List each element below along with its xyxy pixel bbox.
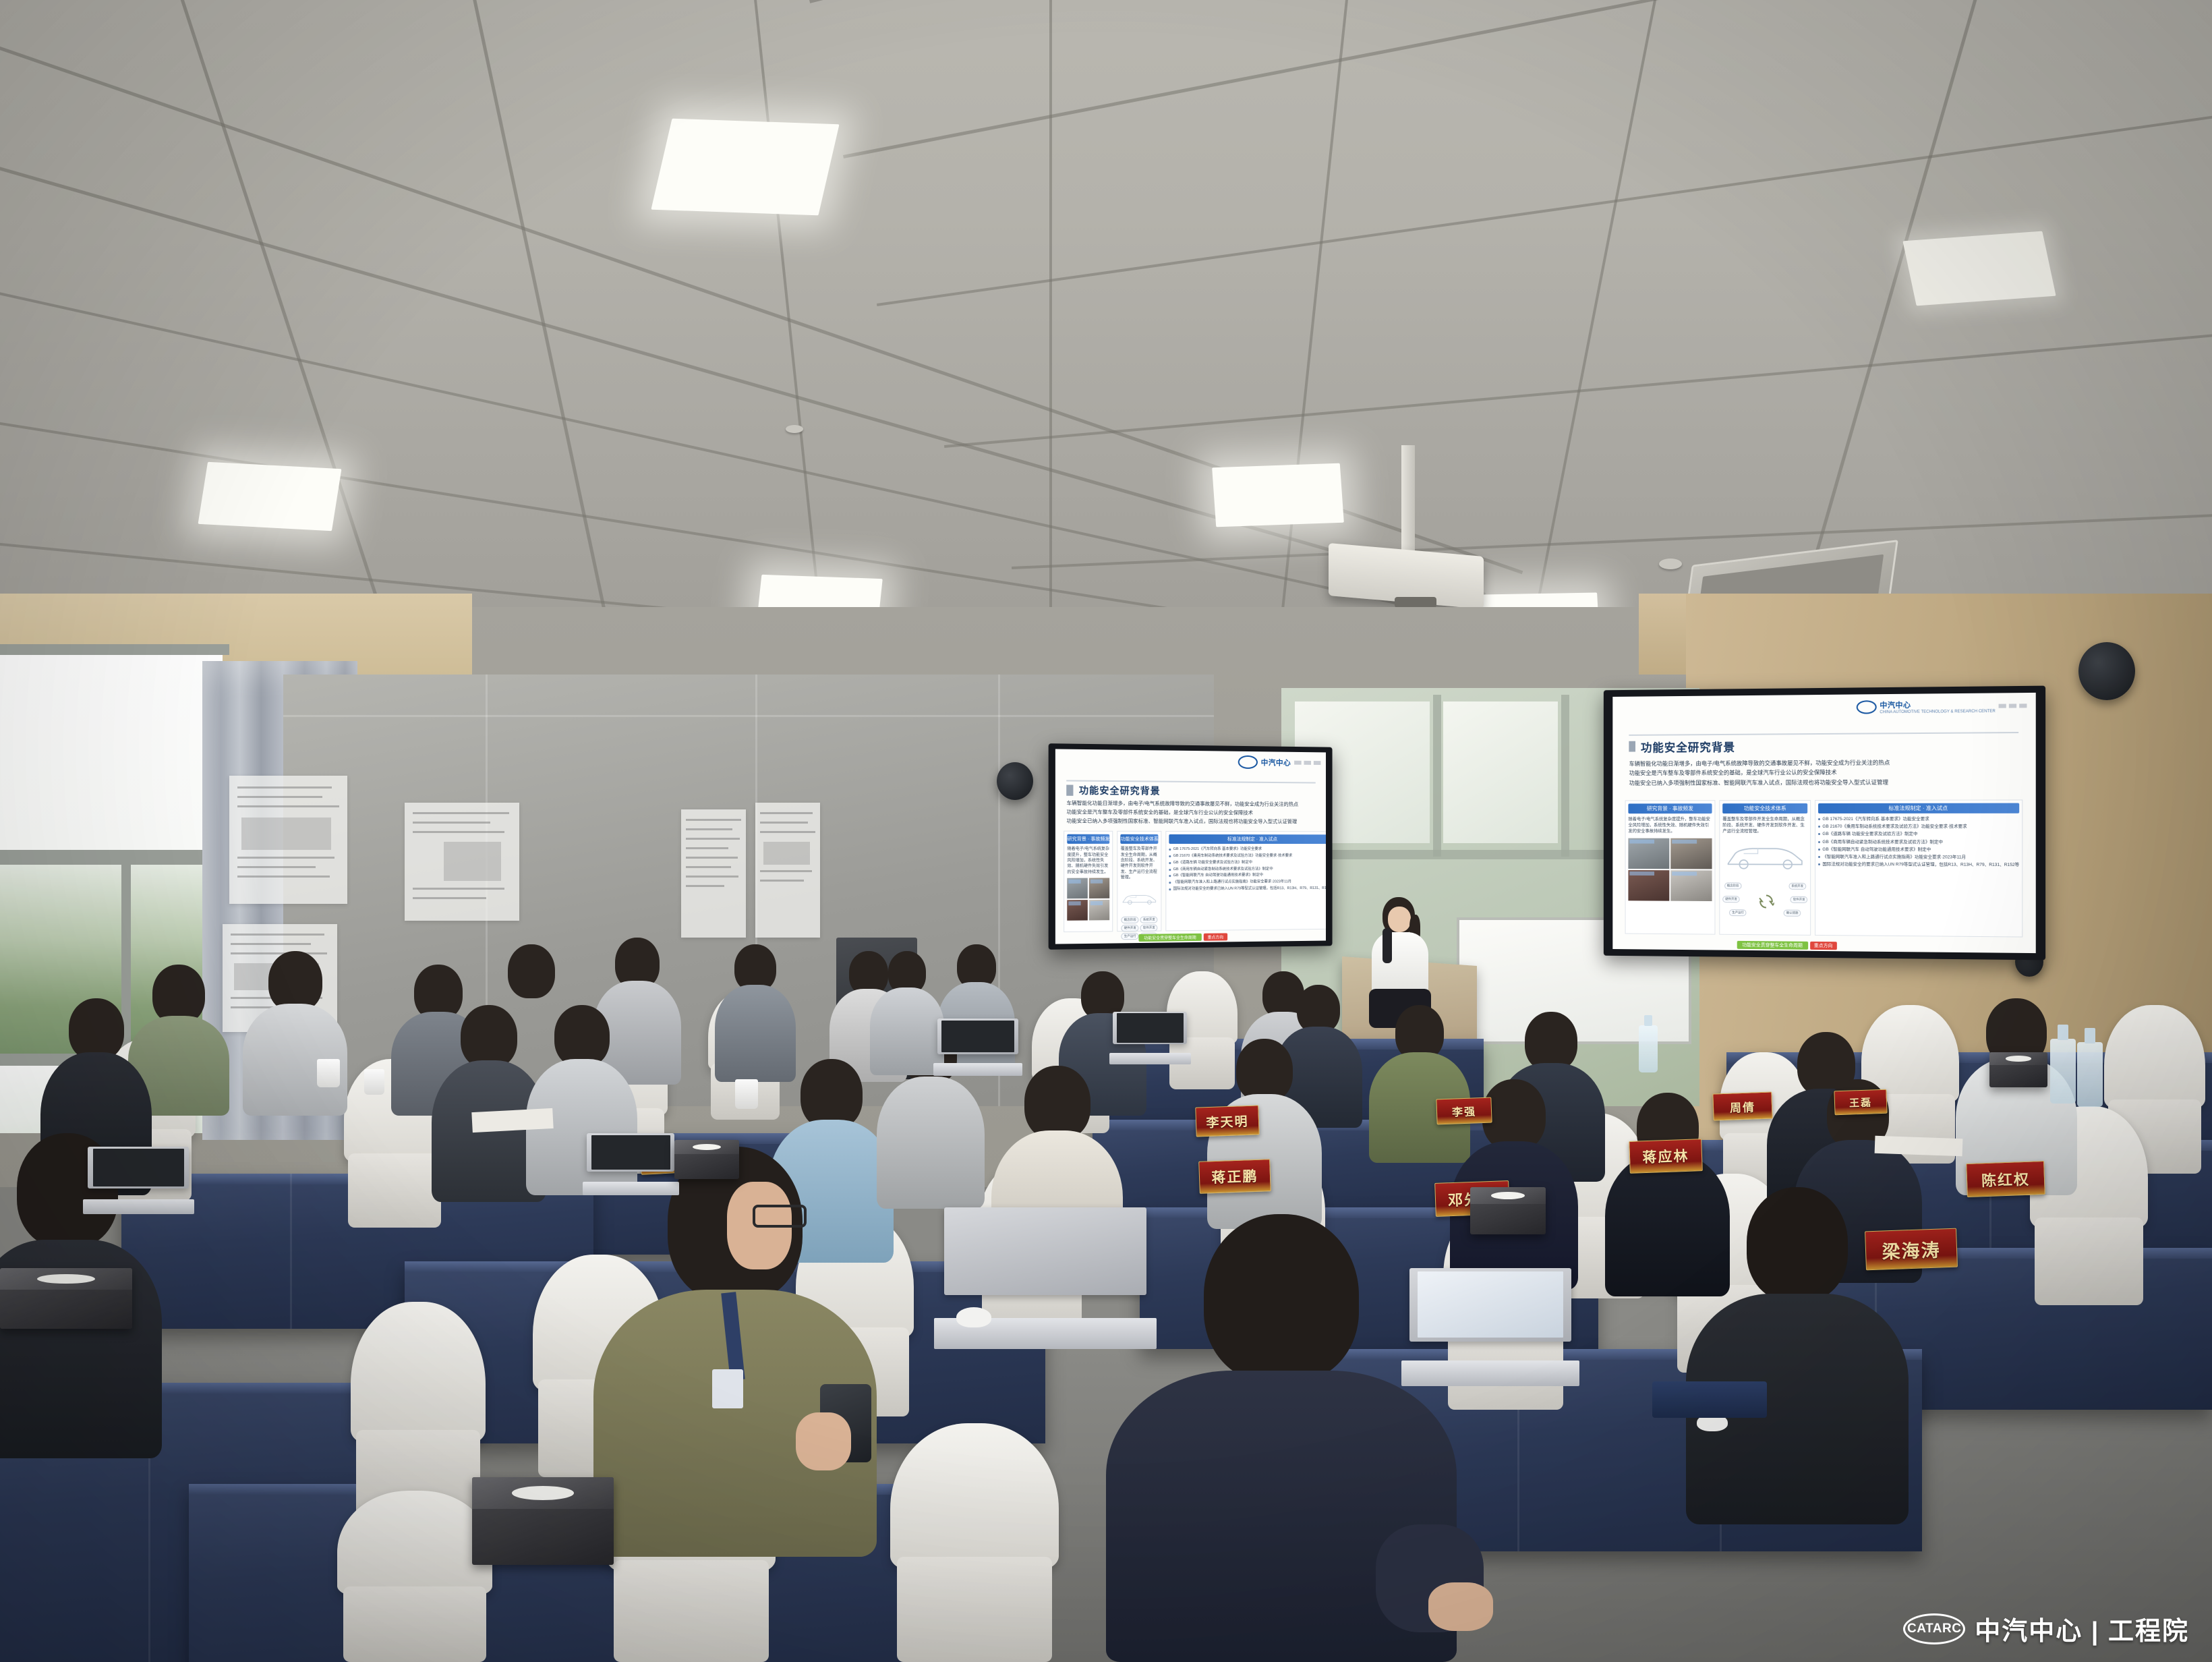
conference-room-photo: 中汽中心 功能安全研究背景 车辆智能化功能日渐增多，由电子/电气系统故障导致的交…: [0, 0, 2212, 1662]
slide-logo: 中汽中心: [1238, 755, 1321, 769]
presenter-microphone: [1382, 928, 1392, 963]
cycle-arrows-icon: [1758, 894, 1774, 910]
slide-column: 功能安全技术体系 覆盖整车及零部件开发全生命周期，从概念阶段、系统开发、硬件开发…: [1719, 800, 1811, 936]
slide-regulation-list: GB 17675-2021《汽车转向系 基本要求》功能安全要求 GB 21670…: [1818, 816, 2019, 869]
slide-bullet: 车辆智能化功能日渐增多，由电子/电气系统故障导致的交通事故屡见不鲜，功能安全成为…: [1066, 800, 1315, 809]
ceiling-light-panel: [651, 119, 839, 216]
slide-left: 中汽中心 功能安全研究背景 车辆智能化功能日渐增多，由电子/电气系统故障导致的交…: [1055, 749, 1326, 944]
nameplate-text: 李强: [1452, 1102, 1477, 1119]
laptop: [88, 1147, 189, 1214]
slide-bullet: 车辆智能化功能日渐增多，由电子/电气系统故障导致的交通事故屡见不鲜，功能安全成为…: [1629, 758, 2018, 768]
slide-chip: 硬件开发: [1722, 896, 1739, 902]
chair: [337, 1491, 492, 1662]
smoke-detector-icon: [1659, 558, 1682, 569]
slide-column-header: 标准法规制定 · 准入试点: [1169, 834, 1326, 844]
nameplate-text: 周倩: [1730, 1097, 1756, 1115]
presenter-face: [1388, 907, 1411, 932]
tissue-box: [674, 1140, 739, 1179]
slide-column-header: 标准法规制定 · 准入试点: [1818, 803, 2019, 813]
list-item: GB 21670《乘用车制动系统技术要求及试验方法》功能安全要求·技术要求: [1818, 824, 2019, 830]
notebook: [1652, 1381, 1767, 1418]
watermark-logo-text: CATARC: [1907, 1622, 1961, 1636]
list-item: GB 17675-2021《汽车转向系 基本要求》功能安全要求: [1818, 816, 2019, 823]
nameplate-text: 王磊: [1849, 1095, 1873, 1110]
slide-brand-sub: CHINA AUTOMOTIVE TECHNOLOGY & RESEARCH C…: [1880, 709, 1995, 714]
list-item: GB《道路车辆 功能安全要求及试验方法》制定中: [1818, 831, 2019, 838]
slide-title: 功能安全研究背景: [1641, 738, 1735, 755]
tissue-box: [0, 1268, 132, 1329]
slide-chip: 概念阶段: [1122, 916, 1139, 923]
slide-bullet: 功能安全已纳入多项强制性国家标准、智能网联汽车准入试点，国际法规也将功能安全导入…: [1629, 778, 2018, 787]
slide-chip: 系统开发: [1140, 916, 1158, 923]
nameplate-text: 蒋正鹏: [1211, 1166, 1258, 1187]
slide-photo: [1089, 900, 1109, 921]
slide-chip: 生产运行: [1729, 909, 1746, 916]
slide-title-marker: [1629, 741, 1636, 752]
slide-title-marker: [1066, 784, 1073, 795]
slide-footer-green-label: 功能安全贯穿整车全生命周期: [1737, 941, 1807, 950]
slide-chip: 硬件开发: [1122, 924, 1139, 931]
list-item: 国际法规对功能安全的要求已纳入UN R79等型式认证管理，包括R13、R13H、…: [1169, 886, 1326, 892]
car-diagram-icon: [1121, 884, 1159, 914]
attendee-foreground-phone-user: [593, 1147, 877, 1551]
slide-column-body: 覆盖整车及零部件开发全生命周期，从概念阶段、系统开发、硬件开发到软件开发、生产运…: [1722, 816, 1807, 834]
wall-poster: [755, 803, 820, 938]
slide-column: 标准法规制定 · 准入试点 GB 17675-2021《汽车转向系 基本要求》功…: [1166, 831, 1326, 931]
slide-footer: 功能安全贯穿整车全生命周期 重点方向: [1737, 941, 1836, 950]
slide-logo: 中汽中心 CHINA AUTOMOTIVE TECHNOLOGY & RESEA…: [1856, 698, 2027, 714]
list-item: 《智能网联汽车准入和上路通行试点实施指南》功能安全要求·2023年11月: [1818, 854, 2019, 861]
slide-column: 研究背景 · 事故频发 随着电子/电气系统复杂度提升，整车功能安全风险增加，系统…: [1064, 831, 1113, 932]
slide-footer-red-label: 重点方向: [1810, 942, 1837, 950]
list-item: 国际法规对功能安全的要求已纳入UN R79等型式认证管理，包括R13、R13H、…: [1818, 861, 2019, 869]
paper-cup: [364, 1069, 384, 1095]
slide-title: 功能安全研究背景: [1079, 783, 1161, 797]
catarc-logo-icon: [1238, 755, 1258, 768]
slide-brand: 中汽中心: [1880, 698, 1995, 710]
wall-poster: [229, 776, 347, 904]
tissue-box: [1989, 1052, 2047, 1087]
slide-column: 功能安全技术体系 覆盖整车及零部件开发全生命周期，从概念阶段、系统开发、硬件开发…: [1117, 831, 1162, 932]
slide-photo: [1628, 838, 1669, 869]
nameplate-li-tianming: 李天明: [1195, 1105, 1259, 1137]
slide-footer: 功能安全贯穿整车全生命周期 重点方向: [1138, 933, 1227, 942]
computer-mouse: [956, 1307, 991, 1327]
slide-bullet: 功能安全已纳入多项强制性国家标准、智能网联汽车准入试点，国际法规也将功能安全导入…: [1066, 818, 1315, 826]
water-bottle: [1639, 1025, 1658, 1072]
slide-column-header: 功能安全技术体系: [1722, 803, 1807, 813]
tissue-box: [1470, 1187, 1546, 1234]
slide-photo: [1067, 878, 1088, 899]
projection-screen-left: 中汽中心 功能安全研究背景 车辆智能化功能日渐增多，由电子/电气系统故障导致的交…: [1049, 743, 1333, 950]
slide-column-body: 覆盖整车及零部件开发全生命周期，从概念阶段、系统开发、硬件开发到软件开发、生产运…: [1121, 847, 1159, 881]
slide-column-header: 研究背景 · 事故频发: [1067, 834, 1109, 844]
water-bottle: [2077, 1042, 2103, 1107]
slide-chip: 软件开发: [1791, 896, 1808, 903]
slide-chip: 概念阶段: [1724, 882, 1741, 889]
nameplate-jiang-zhengpeng: 蒋正鹏: [1198, 1159, 1271, 1194]
wall-speaker: [2078, 642, 2135, 700]
ceiling-light-panel: [1902, 231, 2056, 306]
watermark-text: 中汽中心 | 工程院: [1975, 1610, 2189, 1647]
slide-regulation-list: GB 17675-2021《汽车转向系 基本要求》功能安全要求 GB 21670…: [1169, 847, 1326, 892]
slide-photo-grid: [1628, 838, 1712, 901]
slide-photo: [1670, 838, 1712, 869]
tissue-box: [472, 1477, 614, 1565]
nameplate-wang-lei: 王磊: [1834, 1089, 1887, 1116]
slide-photo: [1628, 870, 1669, 901]
eyeglasses-icon: [753, 1205, 807, 1228]
list-item: GB《商用车辆自动紧急制动系统技术要求及试验方法》制定中: [1818, 839, 2019, 846]
ceiling-projector: [1322, 445, 1497, 634]
wall-speaker: [997, 762, 1033, 800]
nameplate-zhou-qian: 周倩: [1712, 1091, 1772, 1120]
smoke-detector-icon: [786, 425, 803, 433]
slide-photo: [1089, 878, 1109, 899]
slide-chip: 软件开发: [1140, 924, 1158, 931]
slide-column-body: 随着电子/电气系统复杂度提升，整车功能安全风险增加，系统性失效、随机硬件失效引发…: [1067, 847, 1109, 876]
slide-header-dots: [1999, 704, 2027, 708]
slide-photo: [1067, 900, 1088, 921]
catarc-logo-icon: CATARC: [1903, 1613, 1965, 1644]
paper-cup: [735, 1079, 758, 1109]
paper-cup: [317, 1059, 340, 1087]
laptop: [944, 1207, 1146, 1349]
catarc-logo-icon: [1856, 700, 1876, 714]
slide-chip: 生产运行: [1122, 933, 1139, 940]
laptop: [937, 1019, 1018, 1076]
laptop: [1113, 1012, 1187, 1064]
watermark: CATARC 中汽中心 | 工程院: [1903, 1610, 2189, 1647]
document-paper: [1875, 1136, 1963, 1157]
attendee: [243, 951, 347, 1113]
slide-chip: 系统开发: [1788, 883, 1806, 890]
slide-column-header: 研究背景 · 事故频发: [1628, 803, 1712, 813]
nameplate-li-qiang: 李强: [1436, 1097, 1492, 1125]
list-item: GB《商用车辆自动紧急制动系统技术要求及试验方法》制定中: [1169, 866, 1326, 872]
slide-column: 研究背景 · 事故频发 随着电子/电气系统复杂度提升，整车功能安全风险增加，系统…: [1625, 800, 1716, 935]
laptop: [1409, 1268, 1571, 1386]
list-item: GB 21670《乘用车制动系统技术要求及试验方法》功能安全要求·技术要求: [1169, 853, 1326, 859]
list-item: GB《智能网联汽车 自动驾驶功能通用技术要求》制定中: [1169, 873, 1326, 879]
attendee-hand: [796, 1412, 851, 1470]
nameplate-text: 陈红权: [1981, 1168, 2030, 1191]
nameplate-text: 蒋应林: [1642, 1145, 1689, 1167]
wall-poster: [405, 803, 519, 921]
slide-column-body: 随着电子/电气系统复杂度提升，整车功能安全风险增加，系统性失效、随机硬件失效引发…: [1628, 816, 1712, 834]
slide-header-dots: [1294, 760, 1320, 764]
water-bottle: [2050, 1039, 2076, 1104]
presenter-torso: [1372, 932, 1428, 994]
slide-bullet: 功能安全是汽车整车及零部件系统安全的基础，是全球汽车行业公认的安全保障技术: [1629, 768, 2018, 778]
slide-column-header: 功能安全技术体系: [1121, 834, 1159, 844]
chair: [890, 1423, 1059, 1662]
slide-brand: 中汽中心: [1261, 757, 1291, 768]
list-item: GB《智能网联汽车 自动驾驶功能通用技术要求》制定中: [1818, 847, 2019, 853]
nameplate-jiang-yinglin: 蒋应林: [1629, 1139, 1703, 1174]
window-frame: [0, 644, 229, 655]
slide-photo: [1670, 870, 1712, 901]
projection-screen-right: 中汽中心 CHINA AUTOMOTIVE TECHNOLOGY & RESEA…: [1604, 686, 2045, 961]
slide-column: 标准法规制定 · 准入试点 GB 17675-2021《汽车转向系 基本要求》功…: [1815, 799, 2022, 937]
document-paper: [471, 1108, 553, 1133]
nameplate-liang-haitao: 梁海涛: [1865, 1228, 1958, 1271]
attendee-foreground-navy: [1106, 1214, 1457, 1662]
slide-chip: 确认措施: [1784, 910, 1801, 917]
attendee: [870, 951, 944, 1072]
slide-photo-grid: [1067, 878, 1109, 921]
nameplate-text: 梁海涛: [1882, 1235, 1941, 1263]
list-item: GB《道路车辆 功能安全要求及试验方法》制定中: [1169, 859, 1326, 865]
slide-footer-red-label: 重点方向: [1204, 933, 1227, 940]
list-item: 《智能网联汽车准入和上路通行试点实施指南》功能安全要求·2023年11月: [1169, 879, 1326, 885]
slide-bullet: 功能安全是汽车整车及零部件系统安全的基础，是全球汽车行业公认的安全保障技术: [1066, 809, 1315, 817]
nameplate-text: 李天明: [1206, 1111, 1249, 1130]
car-diagram-icon: [1722, 837, 1807, 876]
laptop: [587, 1133, 674, 1195]
nameplate-chen-hongquan: 陈红权: [1966, 1161, 2045, 1197]
ceiling-light-panel: [198, 462, 342, 531]
slide-right: 中汽中心 CHINA AUTOMOTIVE TECHNOLOGY & RESEA…: [1612, 693, 2035, 953]
attendee-hand: [1428, 1582, 1493, 1631]
badge: [712, 1369, 743, 1408]
wall-poster: [681, 809, 746, 938]
list-item: GB 17675-2021《汽车转向系 基本要求》功能安全要求: [1169, 847, 1326, 852]
slide-footer-green-label: 功能安全贯穿整车全生命周期: [1138, 934, 1201, 942]
